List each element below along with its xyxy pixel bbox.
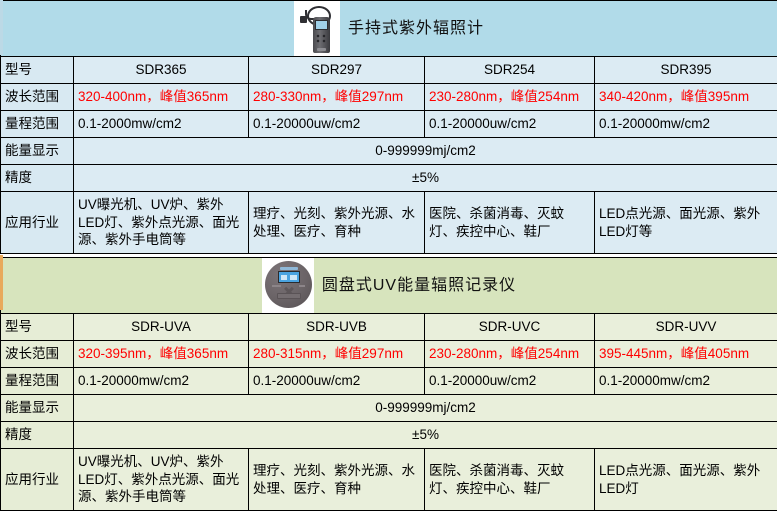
- spec-sheet-page: 手持式紫外辐照计 型号 SDR365 SDR297 SDR254 SDR395 …: [0, 0, 777, 505]
- handheld-uv-meter-spec-table: 手持式紫外辐照计 型号 SDR365 SDR297 SDR254 SDR395 …: [0, 0, 777, 254]
- industry-value-1: UV曝光机、UV炉、紫外LED灯、紫外点光源、面光源、紫外手电筒等: [74, 192, 249, 254]
- probe-sensor-icon: [300, 16, 307, 23]
- product-header-cell: 手持式紫外辐照计: [1, 1, 777, 57]
- row-label-wavelength: 波长范围: [1, 84, 74, 111]
- model-value-3: SDR254: [425, 57, 595, 84]
- row-label-accuracy: 精度: [1, 165, 74, 192]
- table-row-model: 型号 SDR-UVA SDR-UVB SDR-UVC SDR-UVV: [1, 314, 777, 341]
- range-value-1: 0.1-2000mw/cm2: [74, 111, 249, 138]
- range-value-3: 0.1-20000uw/cm2: [425, 111, 595, 138]
- row-label-energy: 能量显示: [1, 395, 74, 422]
- model-value-1: SDR365: [74, 57, 249, 84]
- wavelength-value-4: 340-420nm，峰值395nm: [595, 84, 777, 111]
- wavelength-value-3: 230-280nm，峰值254nm: [425, 84, 595, 111]
- disc-body-icon: [265, 261, 312, 308]
- disc-screen-icon: [278, 271, 300, 283]
- meter-screen-icon: [315, 20, 328, 30]
- row-label-industry: 应用行业: [1, 449, 74, 511]
- model-value-2: SDR-UVB: [249, 314, 425, 341]
- product-title: 圆盘式UV能量辐照记录仪: [322, 275, 516, 296]
- table-row-energy: 能量显示 0-999999mj/cm2: [1, 395, 777, 422]
- industry-value-3: 医院、杀菌消毒、灭蚊灯、疾控中心、鞋厂: [425, 192, 595, 254]
- table-row-energy: 能量显示 0-999999mj/cm2: [1, 138, 777, 165]
- disc-top-strip-icon: [280, 267, 298, 270]
- model-value-4: SDR-UVV: [595, 314, 777, 341]
- industry-value-4: LED点光源、面光源、紫外LED灯等: [595, 192, 777, 254]
- model-value-1: SDR-UVA: [74, 314, 249, 341]
- row-label-range: 量程范围: [1, 111, 74, 138]
- energy-value: 0-999999mj/cm2: [74, 138, 777, 165]
- disc-bottom-label-icon: [277, 293, 301, 299]
- meter-brand-label-icon: [317, 48, 326, 51]
- accuracy-value: ±5%: [74, 165, 777, 192]
- disc-right-text-icon: [299, 285, 305, 287]
- table-row-accuracy: 精度 ±5%: [1, 165, 777, 192]
- product-title: 手持式紫外辐照计: [348, 18, 484, 39]
- row-label-accuracy: 精度: [1, 422, 74, 449]
- model-value-4: SDR395: [595, 57, 777, 84]
- row-label-model: 型号: [1, 314, 74, 341]
- row-label-range: 量程范围: [1, 368, 74, 395]
- table-row-industry: 应用行业 UV曝光机、UV炉、紫外LED灯、紫外点光源、面光源、紫外手电筒等 理…: [1, 192, 777, 254]
- row-label-energy: 能量显示: [1, 138, 74, 165]
- range-value-1: 0.1-20000mw/cm2: [74, 368, 249, 395]
- disc-left-text-icon: [272, 285, 281, 287]
- row-label-industry: 应用行业: [1, 192, 74, 254]
- industry-value-2: 理疗、光刻、紫外光源、水处理、医疗、育种: [249, 192, 425, 254]
- row-label-wavelength: 波长范围: [1, 341, 74, 368]
- table-row-model: 型号 SDR365 SDR297 SDR254 SDR395: [1, 57, 777, 84]
- table-row-industry: 应用行业 UV曝光机、UV炉、紫外LED灯、紫外点光源、面光源、紫外手电筒等 理…: [1, 449, 777, 511]
- meter-body-icon: [313, 17, 330, 53]
- industry-value-2: 理疗、光刻、紫外光源、水处理、医疗、育种: [249, 449, 425, 511]
- table-row-accuracy: 精度 ±5%: [1, 422, 777, 449]
- range-value-4: 0.1-20000mw/cm2: [595, 111, 777, 138]
- industry-value-3: 医院、杀菌消毒、灭蚊灯、疾控中心、鞋厂: [425, 449, 595, 511]
- range-value-2: 0.1-20000uw/cm2: [249, 111, 425, 138]
- table-row-range: 量程范围 0.1-20000mw/cm2 0.1-20000uw/cm2 0.1…: [1, 368, 777, 395]
- disc-uv-energy-recorder-photo: [262, 258, 314, 313]
- industry-value-1: UV曝光机、UV炉、紫外LED灯、紫外点光源、面光源、紫外手电筒等: [74, 449, 249, 511]
- model-value-2: SDR297: [249, 57, 425, 84]
- accuracy-value: ±5%: [74, 422, 777, 449]
- table-header-row: 手持式紫外辐照计: [1, 1, 777, 57]
- wavelength-value-1: 320-400nm，峰值365nm: [74, 84, 249, 111]
- energy-value: 0-999999mj/cm2: [74, 395, 777, 422]
- range-value-3: 0.1-20000uw/cm2: [425, 368, 595, 395]
- table-header-row: 圆盘式UV能量辐照记录仪: [1, 258, 777, 314]
- handheld-uv-meter-photo: [294, 1, 340, 56]
- wavelength-value-2: 280-315nm，峰值297nm: [249, 341, 425, 368]
- range-value-2: 0.1-20000uw/cm2: [249, 368, 425, 395]
- disc-uv-recorder-spec-table: 圆盘式UV能量辐照记录仪 型号 SDR-UVA SDR-UVB SDR-UVC …: [0, 257, 777, 511]
- table-row-wavelength: 波长范围 320-395nm，峰值365nm 280-315nm，峰值297nm…: [1, 341, 777, 368]
- range-value-4: 0.1-20000mw/cm2: [595, 368, 777, 395]
- wavelength-value-4: 395-445nm，峰值405nm: [595, 341, 777, 368]
- meter-keypad-icon: [316, 34, 327, 45]
- wavelength-value-1: 320-395nm，峰值365nm: [74, 341, 249, 368]
- table-row-range: 量程范围 0.1-2000mw/cm2 0.1-20000uw/cm2 0.1-…: [1, 111, 777, 138]
- product-header-cell: 圆盘式UV能量辐照记录仪: [1, 258, 777, 314]
- wavelength-value-3: 230-280nm，峰值254nm: [425, 341, 595, 368]
- table-row-wavelength: 波长范围 320-400nm，峰值365nm 280-330nm，峰值297nm…: [1, 84, 777, 111]
- industry-value-4: LED点光源、面光源、紫外LED灯: [595, 449, 777, 511]
- wavelength-value-2: 280-330nm，峰值297nm: [249, 84, 425, 111]
- row-label-model: 型号: [1, 57, 74, 84]
- model-value-3: SDR-UVC: [425, 314, 595, 341]
